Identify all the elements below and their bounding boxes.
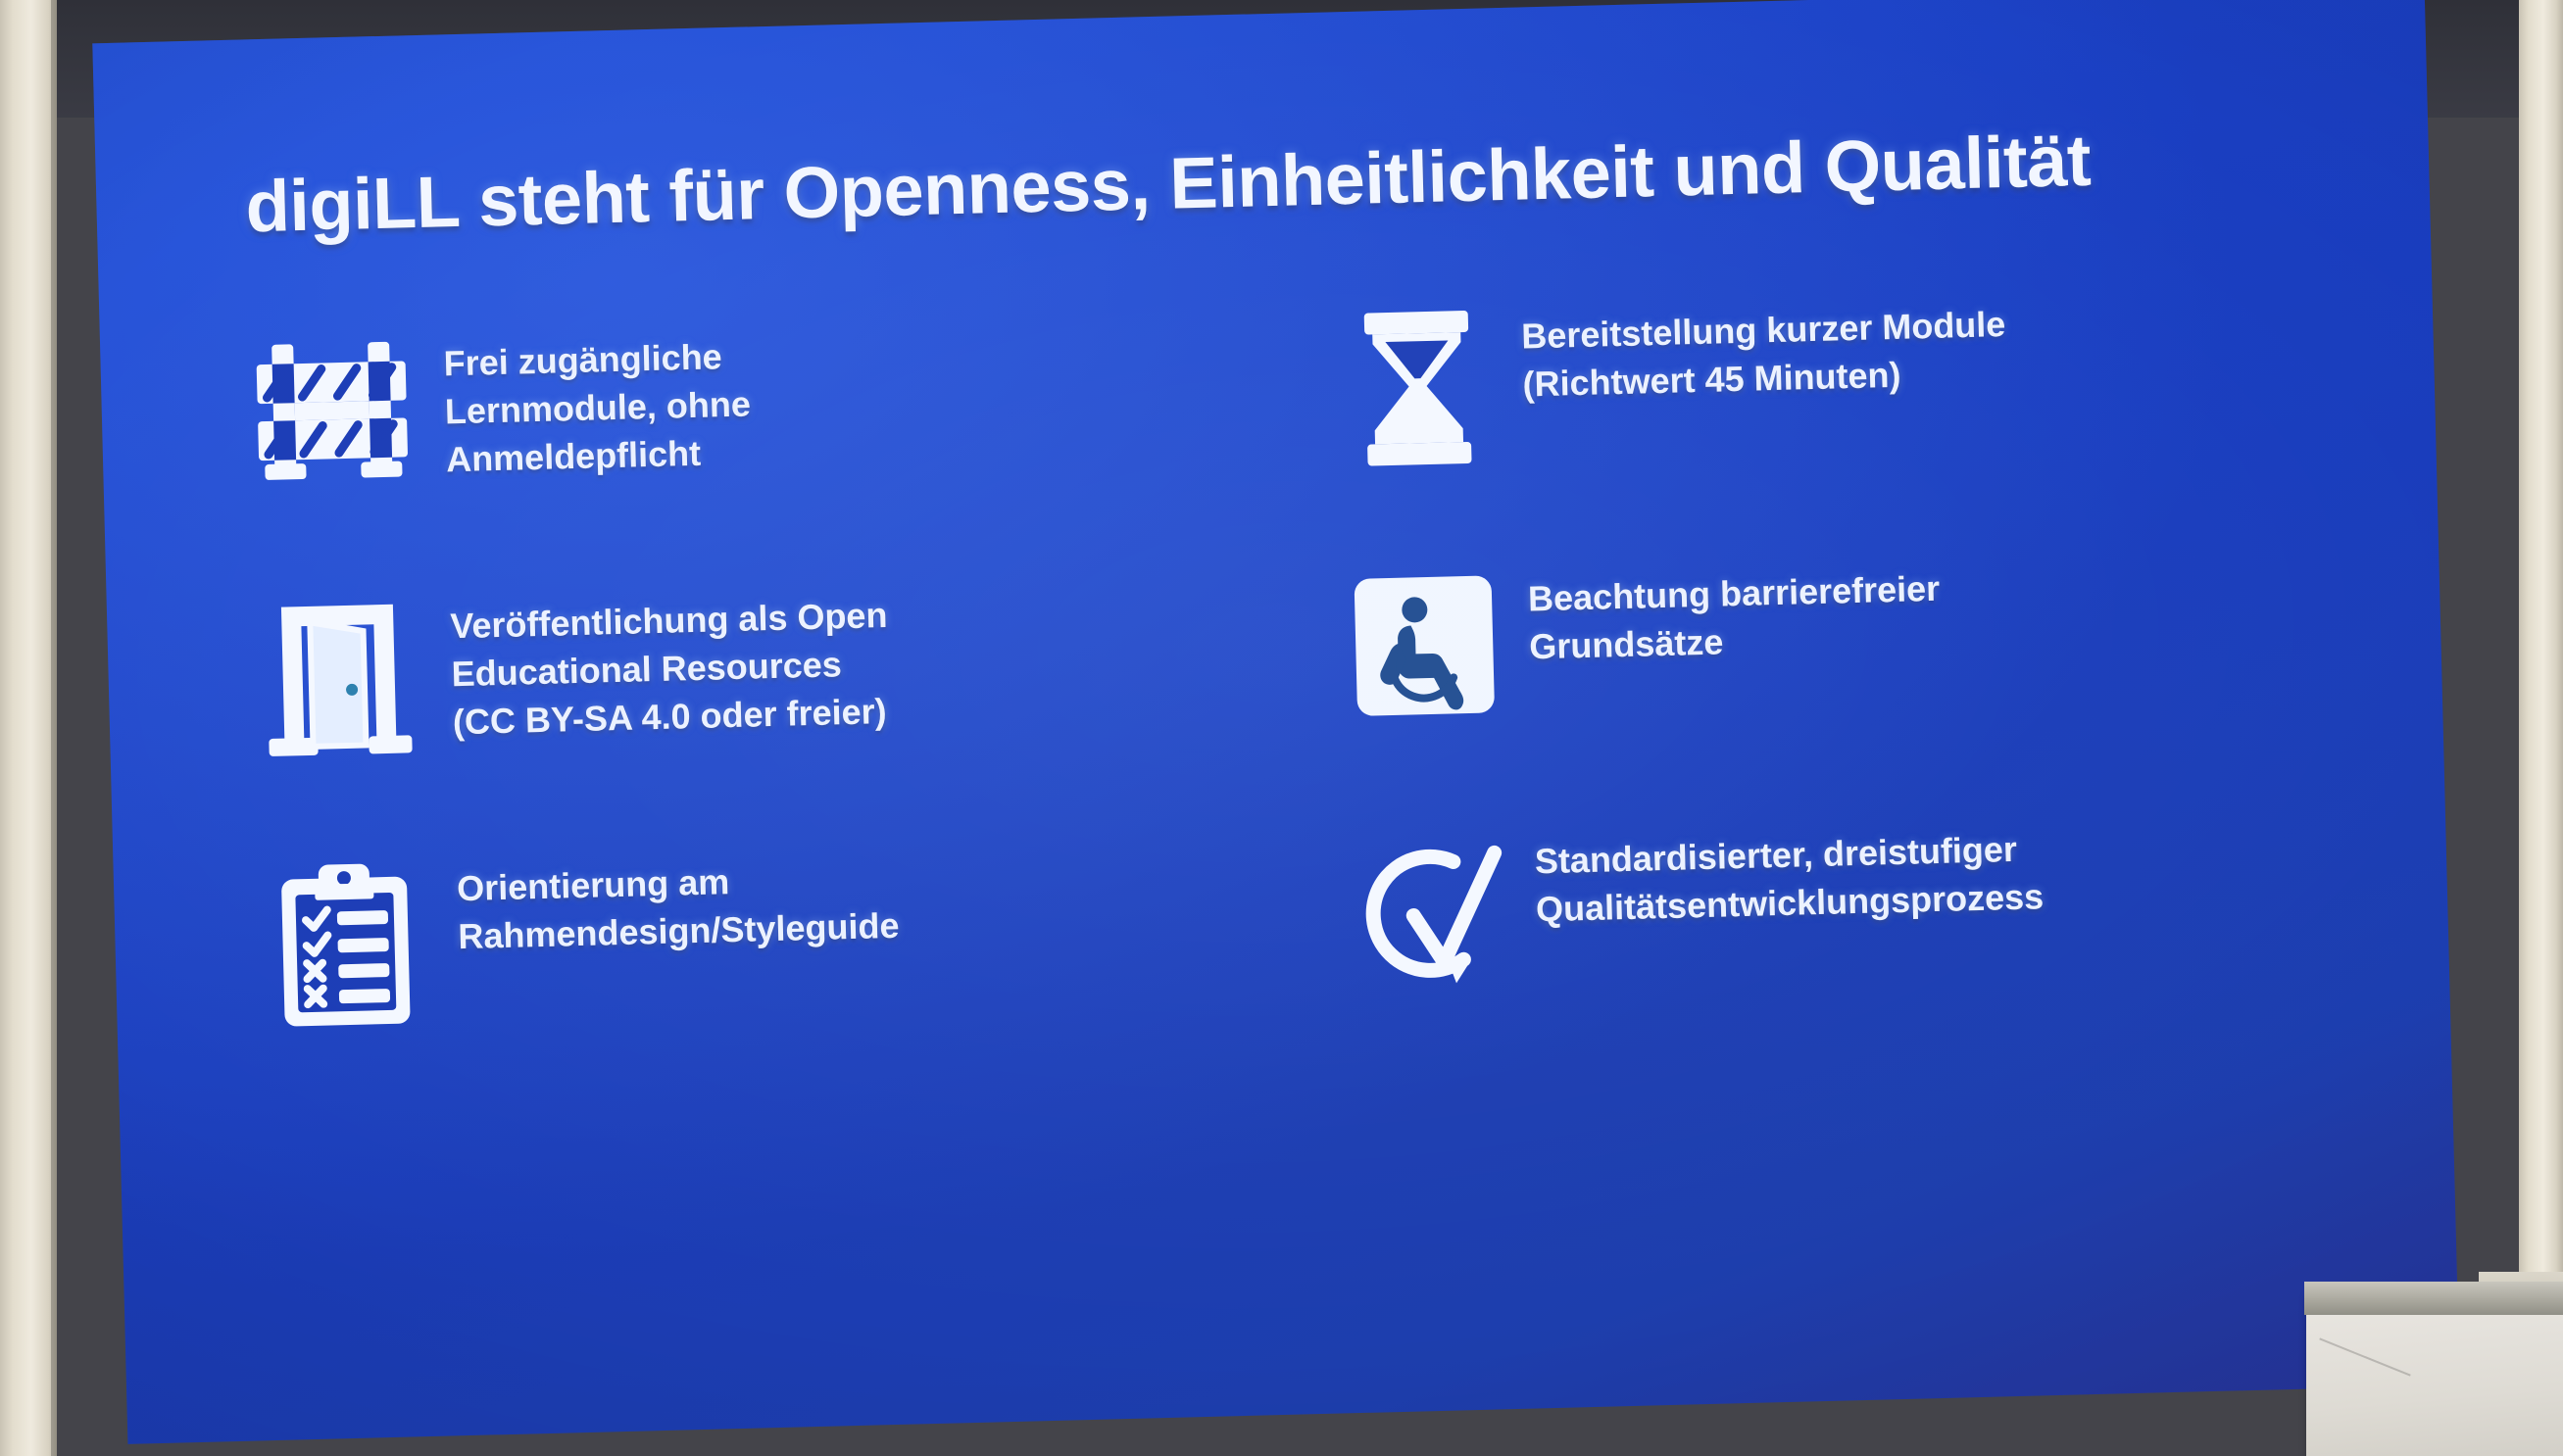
- feature-text: Frei zugängliche Lernmodule, ohne Anmeld…: [443, 320, 753, 484]
- feature-line: Rahmendesign/Styleguide: [458, 902, 900, 961]
- feature-line: Frei zugängliche: [443, 332, 750, 388]
- feature-item-open-access: Frei zugängliche Lernmodule, ohne Anmeld…: [218, 309, 1257, 558]
- wall-right: [2519, 0, 2563, 1456]
- feature-item-short-modules: Bereitstellung kurzer Module (Richtwert …: [1309, 280, 2348, 530]
- feature-line: Anmeldepflicht: [446, 428, 753, 484]
- road-barrier-icon: [218, 328, 447, 487]
- feature-line: Grundsätze: [1529, 613, 1942, 672]
- feature-line: (CC BY-SA 4.0 oder freier): [452, 688, 890, 747]
- feature-grid: Frei zugängliche Lernmodule, ohne Anmeld…: [218, 280, 2363, 1083]
- feature-text: Veröffentlichung als Open Educational Re…: [450, 580, 891, 747]
- cycle-checkmark-icon: [1323, 826, 1538, 994]
- hourglass-icon: [1309, 302, 1524, 469]
- feature-text: Standardisierter, dreistufiger Qualitäts…: [1534, 813, 2045, 934]
- feature-line: Lernmodule, ohne: [444, 380, 751, 436]
- feature-text: Bereitstellung kurzer Module (Richtwert …: [1520, 289, 2007, 409]
- feature-item-quality-process: Standardisierter, dreistufiger Qualitäts…: [1323, 805, 2362, 1055]
- flipchart-rail: [2304, 1282, 2563, 1315]
- flipchart-paper: [2306, 1299, 2563, 1456]
- photographed-presentation-screenshot: digiLL steht für Openness, Einheitlichke…: [0, 0, 2563, 1456]
- slide-title: digiLL steht für Openness, Einheitlichke…: [244, 114, 2264, 248]
- slide-canvas: digiLL steht für Openness, Einheitlichke…: [92, 0, 2459, 1444]
- feature-text: Beachtung barrierefreier Grundsätze: [1527, 554, 1942, 672]
- open-door-icon: [224, 591, 454, 759]
- feature-text: Orientierung am Rahmendesign/Styleguide: [456, 843, 900, 961]
- feature-item-accessibility: Beachtung barrierefreier Grundsätze: [1316, 543, 2355, 793]
- clipboard-checklist-icon: [230, 853, 460, 1032]
- feature-item-styleguide: Orientierung am Rahmendesign/Styleguide: [230, 833, 1269, 1083]
- projected-slide: digiLL steht für Openness, Einheitlichke…: [92, 0, 2459, 1444]
- flipchart: [2298, 1272, 2563, 1456]
- wheelchair-accessibility-icon: [1316, 563, 1531, 721]
- feature-item-oer-license: Veröffentlichung als Open Educational Re…: [224, 570, 1263, 820]
- wall-left: [0, 0, 57, 1456]
